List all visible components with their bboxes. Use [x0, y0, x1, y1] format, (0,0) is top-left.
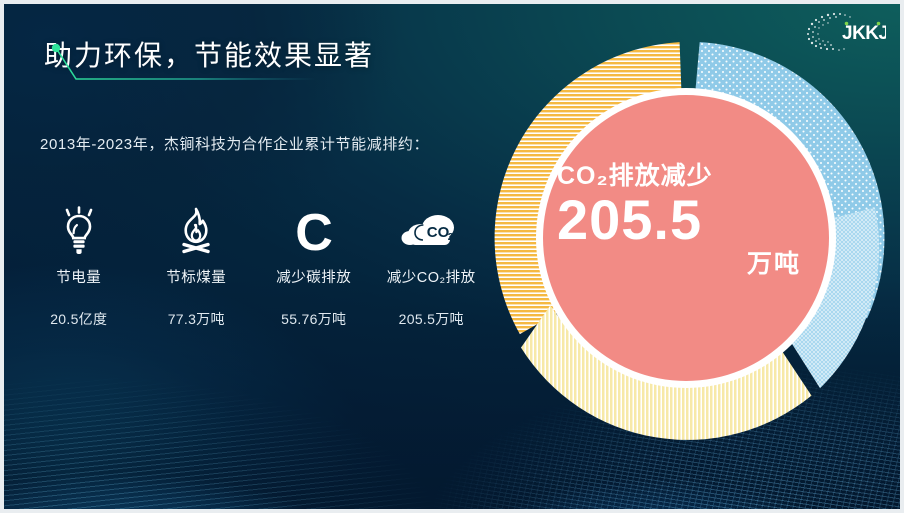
co2-cloud-icon: CO 2 [373, 202, 491, 260]
stat-item-coal: 节标煤量 77.3万吨 [138, 202, 256, 329]
carbon-c-icon: C [255, 202, 373, 260]
stats-row: 节电量 20.5亿度 节标煤量 77.3万吨 C 减少碳排放 [20, 202, 490, 329]
donut-center-disc [543, 95, 829, 381]
stat-label: 减少CO₂排放 [373, 266, 491, 287]
lightbulb-icon [20, 202, 138, 260]
stat-value: 77.3万吨 [138, 309, 256, 329]
stat-label: 节标煤量 [138, 266, 256, 287]
stat-item-co2: CO 2 减少CO₂排放 205.5万吨 [373, 202, 491, 329]
page-title-block: 助力环保，节能效果显著 [44, 42, 374, 70]
svg-text:C: C [295, 205, 333, 257]
stat-label: 减少碳排放 [255, 266, 373, 287]
page-title: 助力环保，节能效果显著 [44, 42, 374, 70]
stat-item-electricity: 节电量 20.5亿度 [20, 202, 138, 329]
logo-accent-dot [845, 22, 849, 26]
stat-value: 20.5亿度 [20, 309, 138, 329]
stat-value: 205.5万吨 [373, 309, 491, 329]
logo-accent-dot-2 [877, 22, 881, 26]
stat-value: 55.76万吨 [255, 309, 373, 329]
flame-icon [138, 202, 256, 260]
logo-wordmark: JKKJ [842, 23, 886, 44]
donut-chart [490, 42, 900, 462]
stat-label: 节电量 [20, 266, 138, 287]
subtitle-text: 2013年-2023年，杰锏科技为合作企业累计节能减排约： [40, 132, 480, 158]
stat-item-carbon: C 减少碳排放 55.76万吨 [255, 202, 373, 329]
slide-canvas: JKKJ 助力环保，节能效果显著 2013年-2023年，杰锏科技为合作企业累计… [4, 4, 900, 509]
